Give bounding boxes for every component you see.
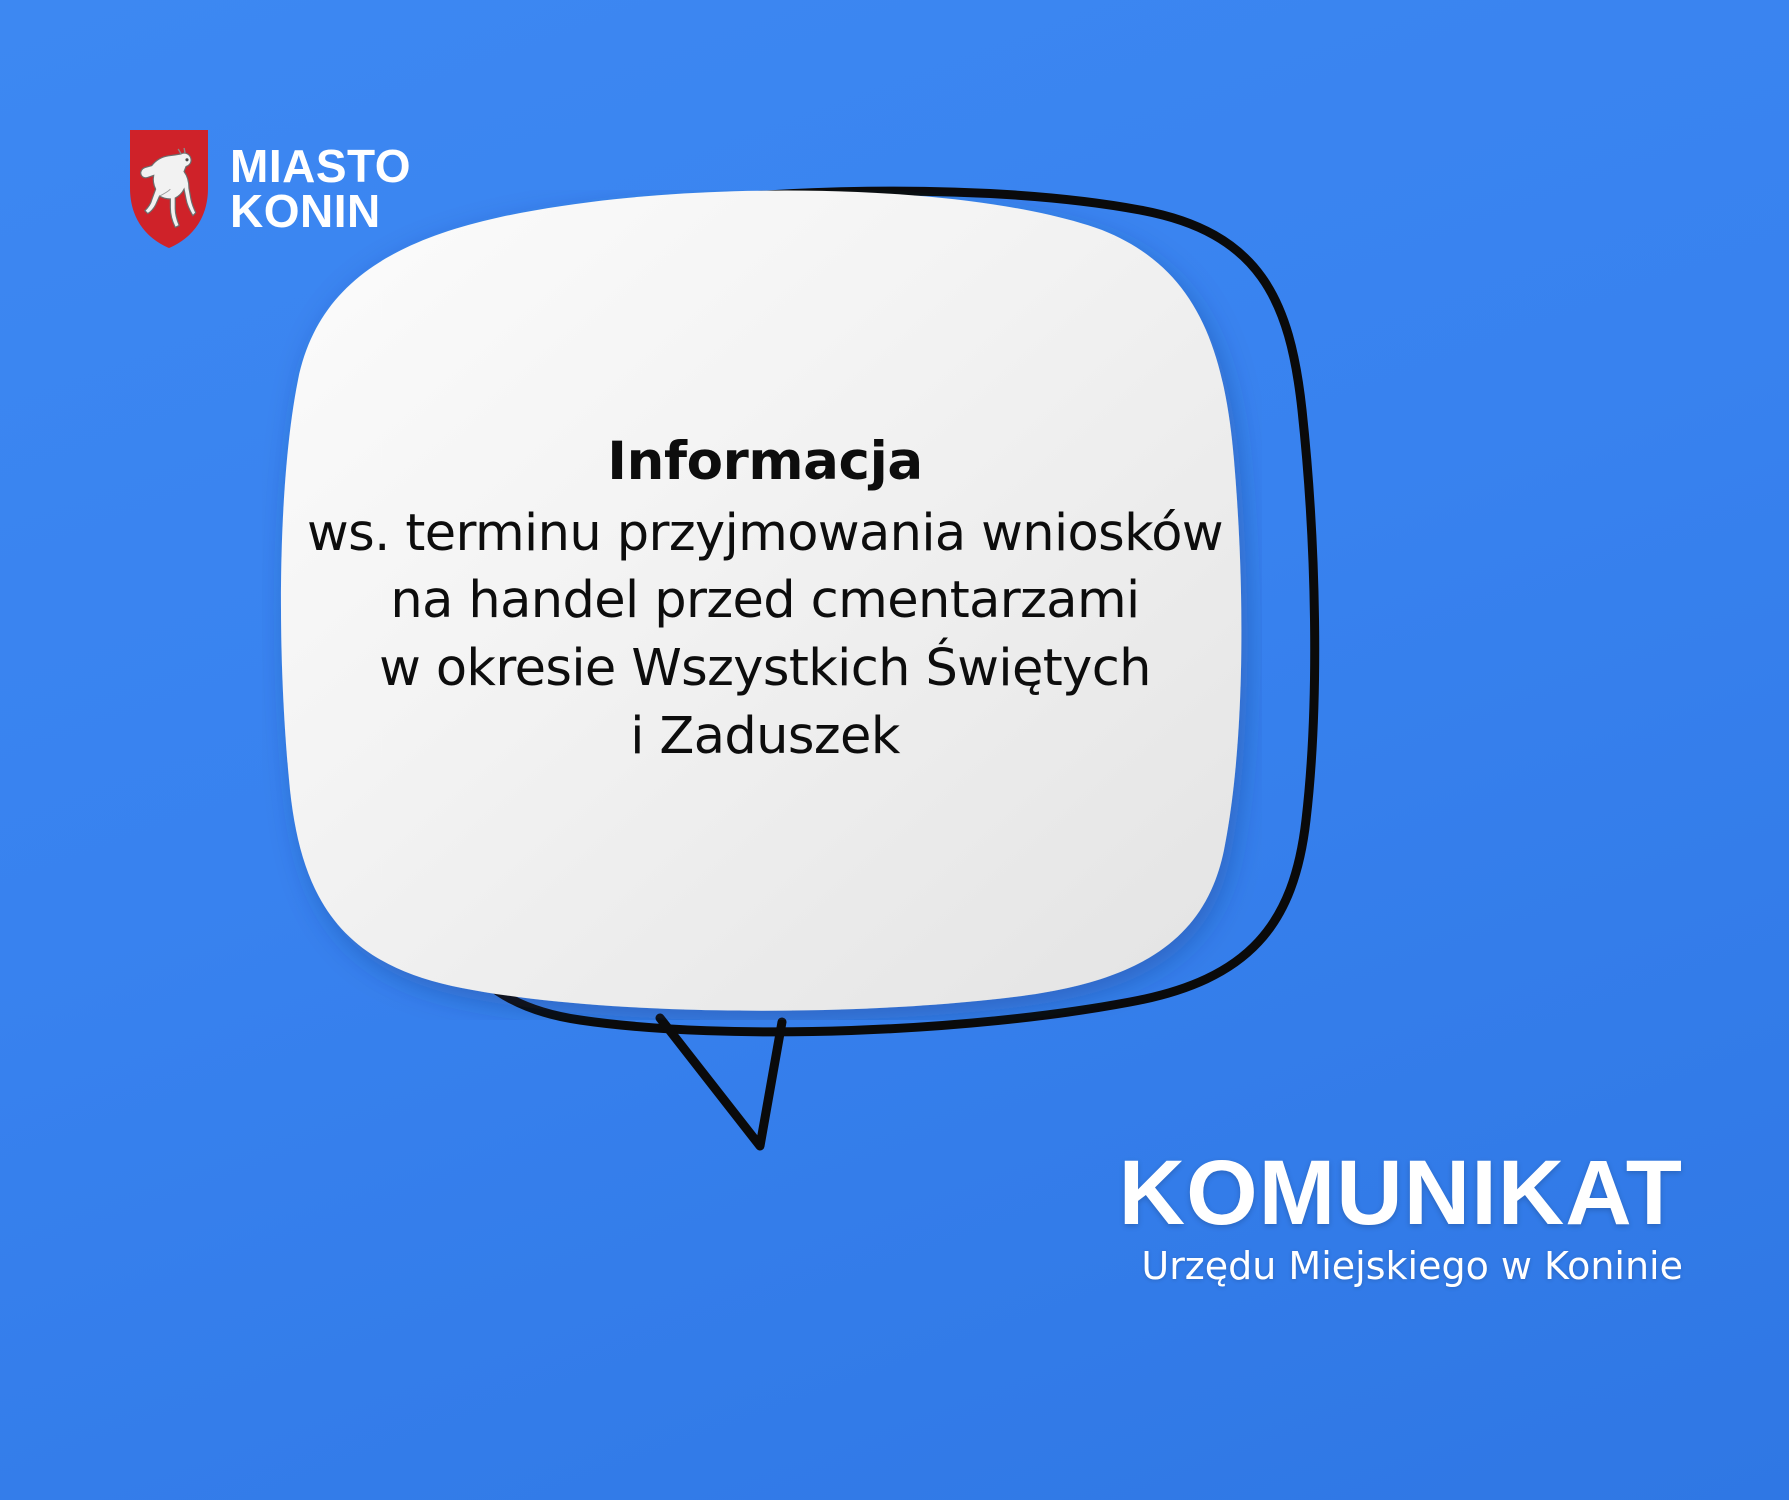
poster-canvas: MIASTO KONIN Informa — [0, 0, 1789, 1500]
komunikat-block: KOMUNIKAT Urzędu Miejskiego w Koninie — [1119, 1147, 1683, 1288]
konin-coat-of-arms-horse-shield-icon — [130, 130, 208, 248]
message-line-3: w okresie Wszystkich Świętych — [300, 635, 1230, 703]
message-line-1: ws. terminu przyjmowania wniosków — [300, 500, 1230, 568]
message-block: Informacja ws. terminu przyjmowania wnio… — [300, 430, 1230, 771]
message-line-4: i Zaduszek — [300, 703, 1230, 771]
message-title: Informacja — [300, 430, 1230, 494]
komunikat-title: KOMUNIKAT — [1119, 1147, 1683, 1239]
message-line-2: na handel przed cmentarzami — [300, 567, 1230, 635]
komunikat-subtitle: Urzędu Miejskiego w Koninie — [1119, 1246, 1683, 1288]
